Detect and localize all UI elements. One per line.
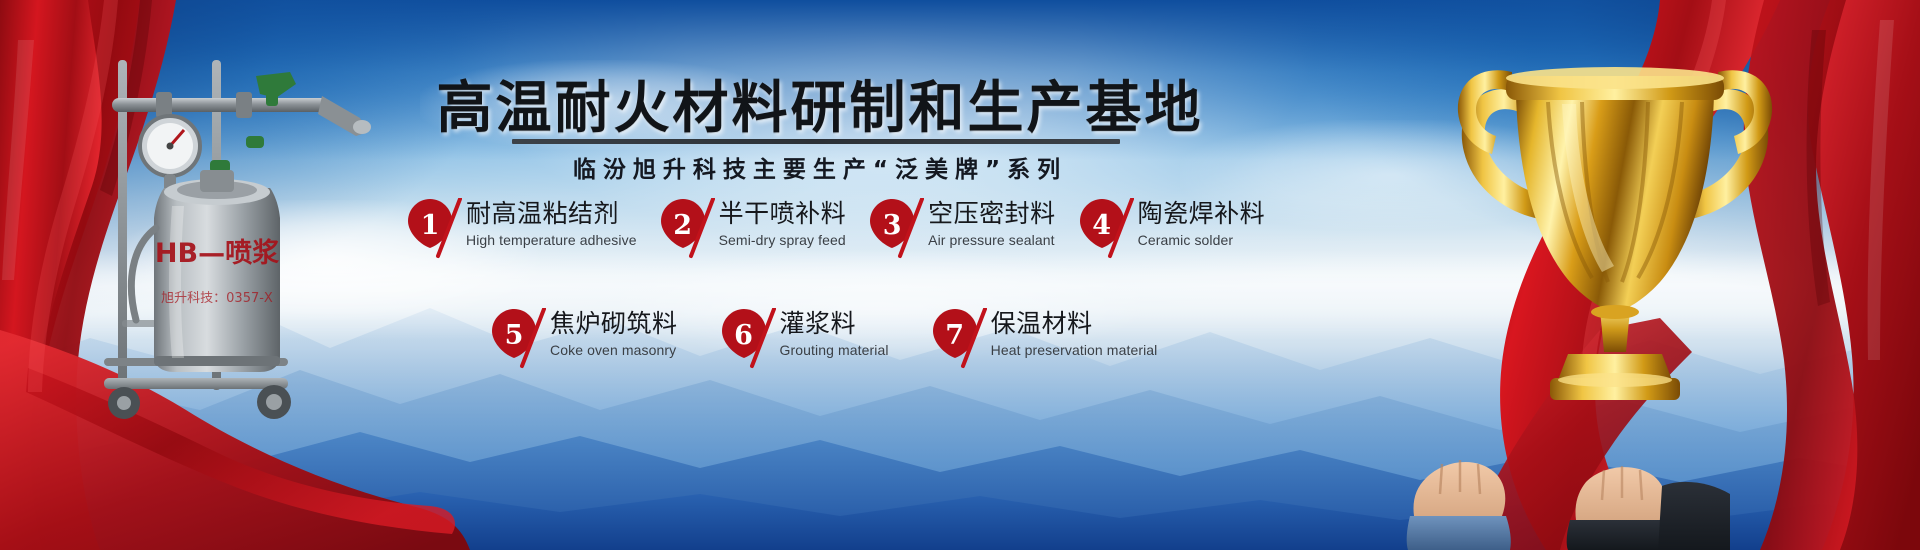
feature-number: 7 <box>933 313 977 357</box>
feature-title-en: Grouting material <box>780 342 889 358</box>
feature-number: 1 <box>408 203 452 247</box>
svg-text:旭升科技：0357-X: 旭升科技：0357-X <box>161 291 273 306</box>
feature-title-en: Heat preservation material <box>991 342 1158 358</box>
hands-holding-trophy-icon <box>1390 420 1730 550</box>
number-badge-icon: 7 <box>933 308 987 370</box>
feature-title-cn: 陶瓷焊补料 <box>1138 200 1266 228</box>
feature-title-cn: 半干喷补料 <box>719 200 847 228</box>
feature-text: 半干喷补料 Semi-dry spray feed <box>715 198 847 248</box>
svg-text:HB—喷浆: HB—喷浆 <box>155 237 280 269</box>
feature-number: 4 <box>1080 203 1124 247</box>
feature-text: 空压密封料 Air pressure sealant <box>924 198 1056 248</box>
feature-item-1[interactable]: 1 耐高温粘结剂 High temperature adhesive <box>408 198 637 260</box>
number-badge-icon: 3 <box>870 198 924 260</box>
feature-number: 5 <box>492 313 536 357</box>
feature-text: 耐高温粘结剂 High temperature adhesive <box>462 198 637 248</box>
feature-item-4[interactable]: 4 陶瓷焊补料 Ceramic solder <box>1080 198 1266 260</box>
banner-content: 高温耐火材料研制和生产基地 临汾旭升科技主要生产“泛美牌”系列 1 耐高温粘结剂 <box>400 0 1240 550</box>
feature-number: 6 <box>722 313 766 357</box>
feature-item-7[interactable]: 7 保温材料 Heat preservation material <box>933 308 1158 370</box>
page-subtitle: 临汾旭升科技主要生产“泛美牌”系列 <box>400 150 1240 184</box>
spray-machine-icon: HB—喷浆 旭升科技：0357-X <box>60 20 400 450</box>
feature-list: 1 耐高温粘结剂 High temperature adhesive 2 <box>400 198 1240 370</box>
number-badge-icon: 2 <box>661 198 715 260</box>
feature-item-5[interactable]: 5 焦炉砌筑料 Coke oven masonry <box>492 308 678 370</box>
number-badge-icon: 1 <box>408 198 462 260</box>
feature-title-cn: 保温材料 <box>991 310 1158 338</box>
feature-item-3[interactable]: 3 空压密封料 Air pressure sealant <box>870 198 1056 260</box>
feature-row-2: 5 焦炉砌筑料 Coke oven masonry 6 <box>400 308 1240 370</box>
gold-trophy-icon <box>1450 20 1780 420</box>
feature-row-1: 1 耐高温粘结剂 High temperature adhesive 2 <box>400 198 1240 260</box>
feature-item-2[interactable]: 2 半干喷补料 Semi-dry spray feed <box>661 198 847 260</box>
feature-title-cn: 焦炉砌筑料 <box>550 310 678 338</box>
feature-title-en: Ceramic solder <box>1138 232 1266 248</box>
feature-title-en: Air pressure sealant <box>928 232 1056 248</box>
feature-number: 2 <box>661 203 705 247</box>
number-badge-icon: 6 <box>722 308 776 370</box>
feature-title-cn: 灌浆料 <box>780 310 889 338</box>
feature-title-en: Semi-dry spray feed <box>719 232 847 248</box>
feature-title-en: Coke oven masonry <box>550 342 678 358</box>
feature-title-cn: 空压密封料 <box>928 200 1056 228</box>
feature-title-cn: 耐高温粘结剂 <box>466 200 637 228</box>
feature-text: 灌浆料 Grouting material <box>776 308 889 358</box>
title-divider <box>512 139 1120 144</box>
feature-title-en: High temperature adhesive <box>466 232 637 248</box>
feature-number: 3 <box>870 203 914 247</box>
feature-text: 焦炉砌筑料 Coke oven masonry <box>546 308 678 358</box>
number-badge-icon: 4 <box>1080 198 1134 260</box>
feature-item-6[interactable]: 6 灌浆料 Grouting material <box>722 308 889 370</box>
number-badge-icon: 5 <box>492 308 546 370</box>
feature-text: 陶瓷焊补料 Ceramic solder <box>1134 198 1266 248</box>
page-title: 高温耐火材料研制和生产基地 <box>400 63 1240 144</box>
promo-banner: HB—喷浆 旭升科技：0357-X <box>0 0 1920 550</box>
feature-text: 保温材料 Heat preservation material <box>987 308 1158 358</box>
